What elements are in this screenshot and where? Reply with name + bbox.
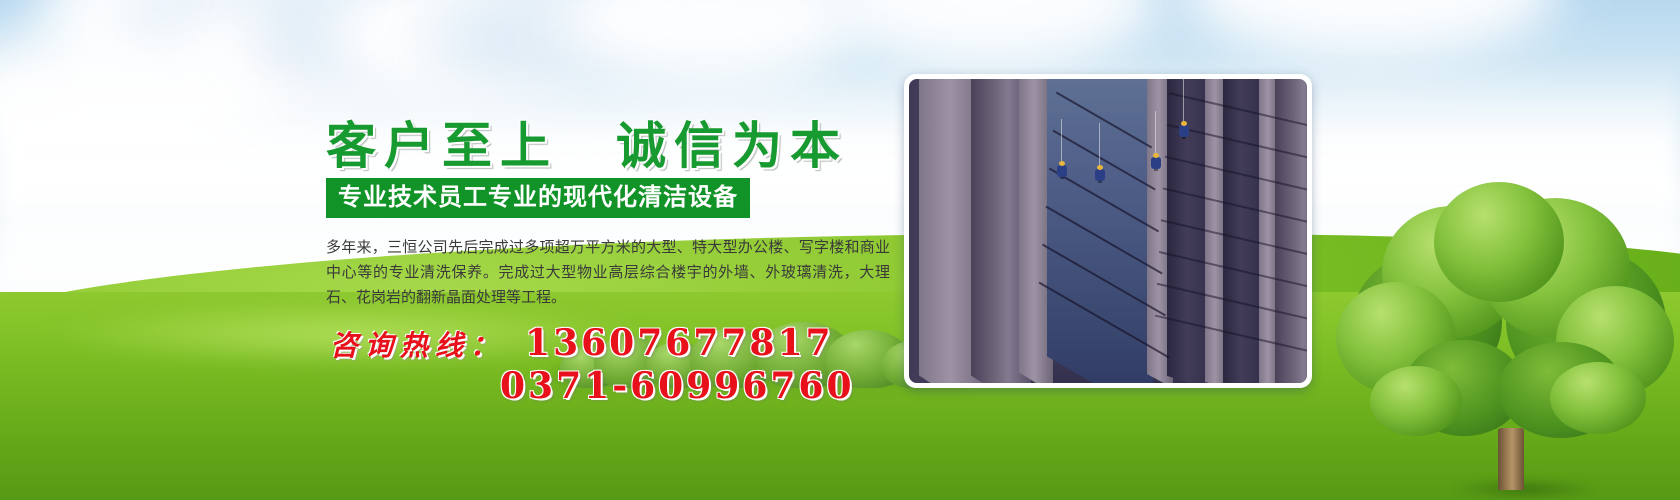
worker-icon: [1179, 125, 1189, 137]
tree-shadow: [1450, 478, 1600, 500]
big-tree: [1330, 190, 1680, 490]
hotline-secondary-number[interactable]: 0371-60996760: [500, 365, 855, 407]
hotline-secondary-row: 0371-60996760: [500, 365, 855, 407]
headline: 客户至上 诚信为本: [326, 106, 848, 178]
building-photo-frame: [904, 74, 1312, 388]
hotline-label: 咨询热线：: [330, 329, 505, 362]
worker-icon: [1151, 157, 1161, 169]
hotline-primary-row: 咨询热线：13607677817: [330, 322, 834, 364]
worker-icon: [1057, 165, 1067, 177]
subtitle-bar: 专业技术员工专业的现代化清洁设备: [326, 178, 750, 218]
promo-banner: 客户至上 诚信为本 专业技术员工专业的现代化清洁设备 多年来，三恒公司先后完成过…: [0, 0, 1680, 500]
building-photo: [909, 79, 1307, 383]
hotline-primary-number[interactable]: 13607677817: [525, 322, 834, 364]
worker-icon: [1095, 169, 1105, 181]
body-paragraph: 多年来，三恒公司先后完成过多项超万平方米的大型、特大型办公楼、写字楼和商业中心等…: [326, 235, 890, 310]
subtitle-bar-label: 专业技术员工专业的现代化清洁设备: [338, 185, 738, 209]
tree-trunk: [1498, 428, 1524, 490]
